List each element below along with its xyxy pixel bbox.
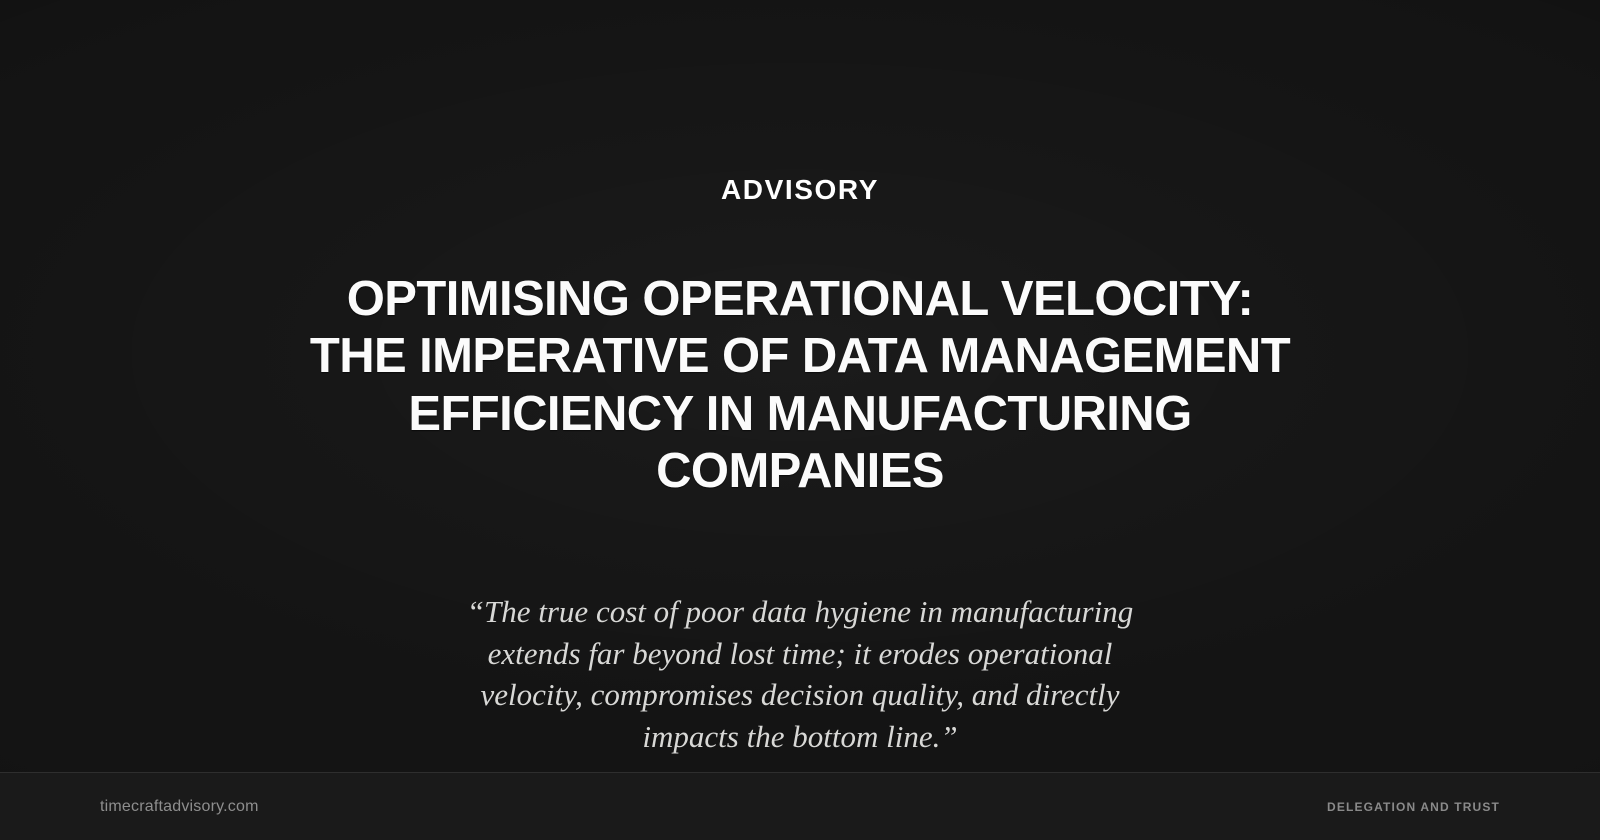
pull-quote: “The true cost of poor data hygiene in m… — [450, 591, 1150, 757]
logo-wordmark-primary: TIMECRAFT — [714, 138, 887, 167]
logo-wordmark-secondary: ADVISORY — [721, 176, 879, 204]
glitch-wordmark: TIMECRAFT — [714, 138, 887, 166]
footer-section-label: DELEGATION AND TRUST — [1327, 800, 1500, 814]
page-title: Optimising Operational Velocity: The Imp… — [300, 271, 1300, 500]
slide-content: TIMECRAFT ADVISORY Optimising Operationa… — [0, 0, 1600, 772]
slide-footer: timecraftadvisory.com DELEGATION AND TRU… — [0, 772, 1600, 840]
footer-website-url: timecraftadvisory.com — [100, 798, 259, 816]
presentation-slide: TIMECRAFT ADVISORY Optimising Operationa… — [0, 0, 1600, 840]
brand-logo: TIMECRAFT ADVISORY — [714, 138, 887, 204]
